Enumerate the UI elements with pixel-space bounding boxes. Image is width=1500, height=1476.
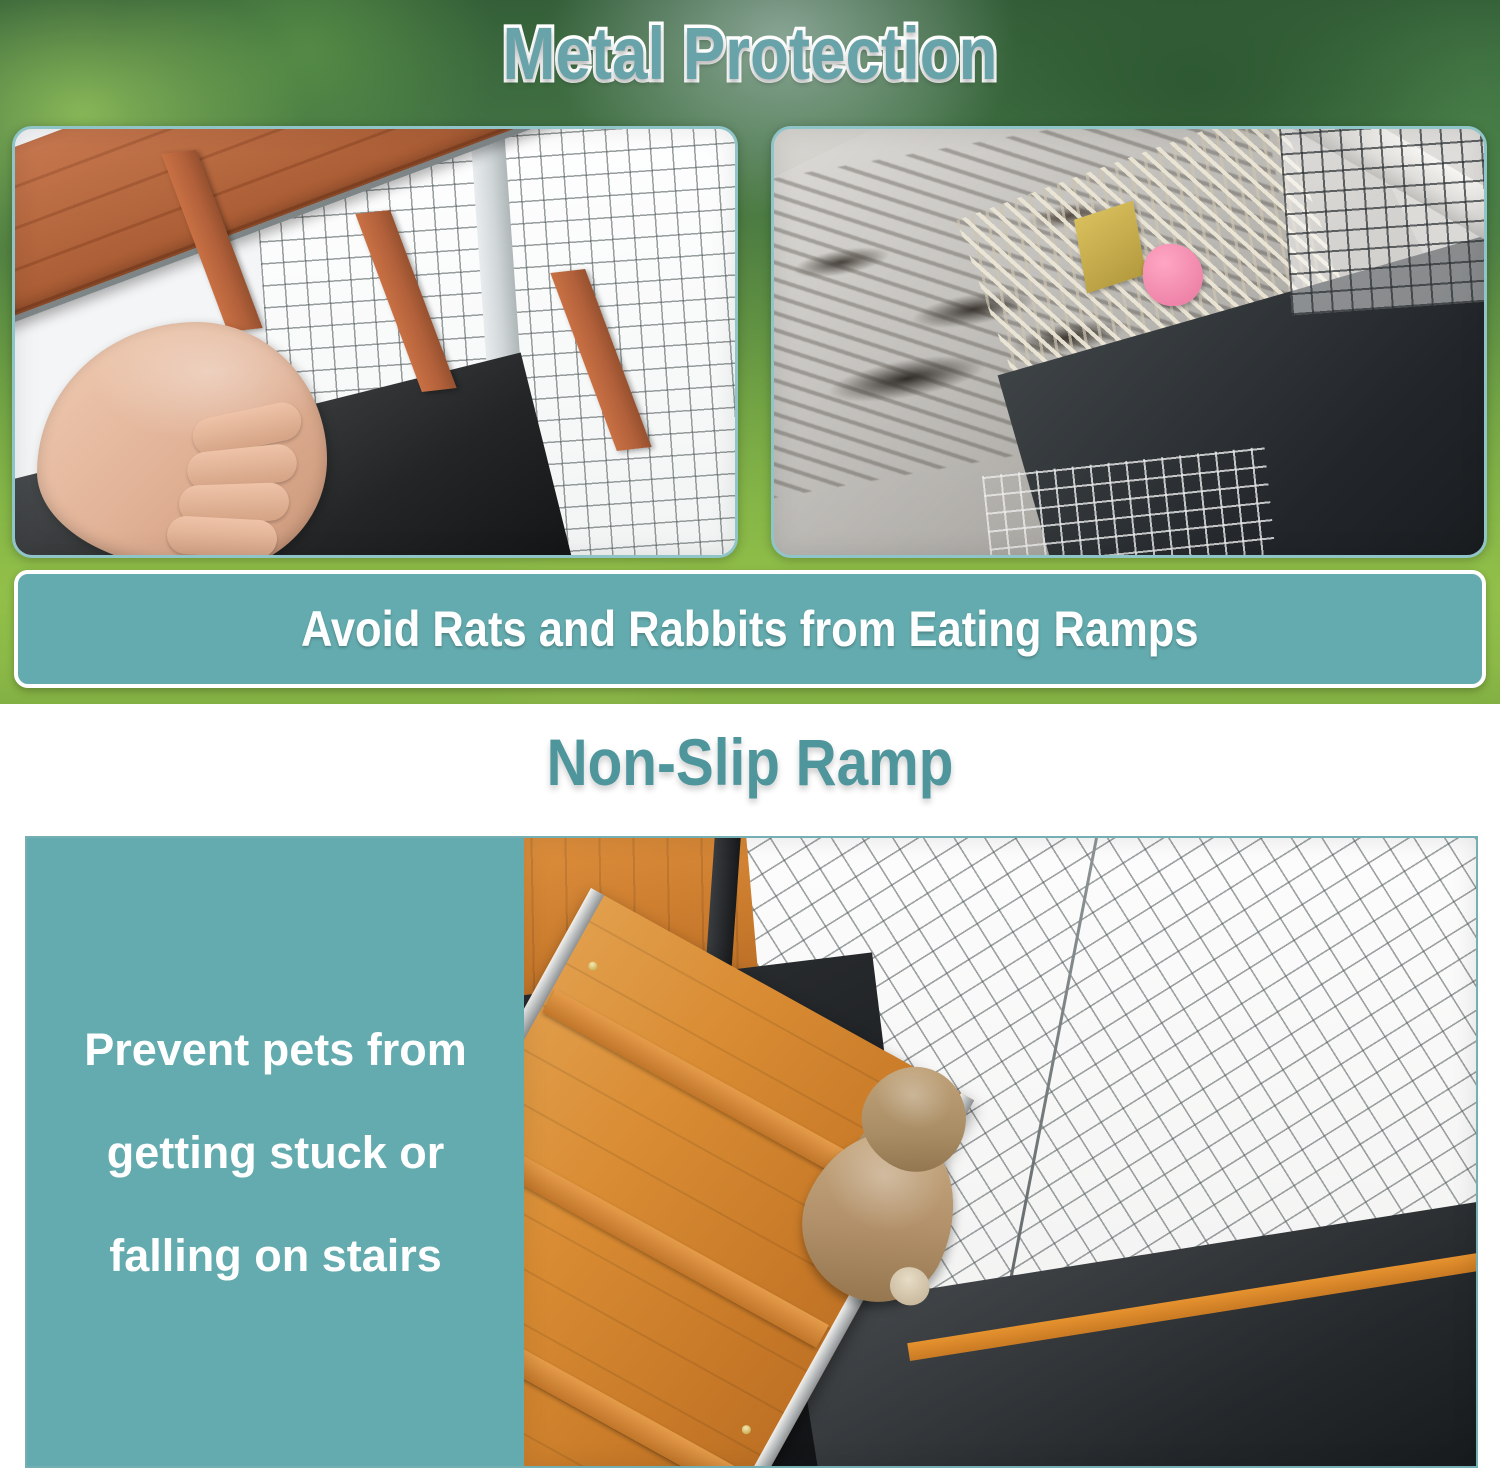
pink-toy xyxy=(1143,244,1203,306)
caption-text: Avoid Rats and Rabbits from Eating Ramps xyxy=(301,600,1199,658)
human-hand xyxy=(37,322,327,555)
benefit-text-block: Prevent pets from getting stuck or falli… xyxy=(27,838,524,1466)
ramp-held-illustration xyxy=(15,129,735,555)
section-non-slip-ramp: Non-Slip Ramp Prevent pets from getting … xyxy=(0,704,1500,1476)
photo-chewed-damaged-ramp xyxy=(771,126,1487,558)
benefit-text-line-3: falling on stairs xyxy=(109,1233,442,1278)
benefit-text-line-1: Prevent pets from xyxy=(84,1027,467,1072)
ramp-anti-slip-slat xyxy=(524,1278,747,1466)
benefit-text-line-2: getting stuck or xyxy=(107,1130,445,1175)
photo-rabbit-on-ramp xyxy=(524,838,1476,1466)
caption-banner-avoid-eating: Avoid Rats and Rabbits from Eating Ramps xyxy=(14,570,1486,688)
wire-mesh-background xyxy=(1279,129,1484,315)
section-title-non-slip-ramp: Non-Slip Ramp xyxy=(105,724,1395,800)
photo-ramp-held-in-hand xyxy=(12,126,738,558)
ramp-screw xyxy=(586,961,598,973)
finger xyxy=(166,515,278,555)
ramp-screw xyxy=(740,1424,752,1436)
page-title: Metal Protection xyxy=(105,8,1395,101)
section-metal-protection: Metal Protection xyxy=(0,0,1500,704)
product-feature-infographic: Metal Protection xyxy=(0,0,1500,1476)
non-slip-ramp-composite: Prevent pets from getting stuck or falli… xyxy=(25,836,1478,1468)
chewed-ramp-illustration xyxy=(774,129,1484,555)
